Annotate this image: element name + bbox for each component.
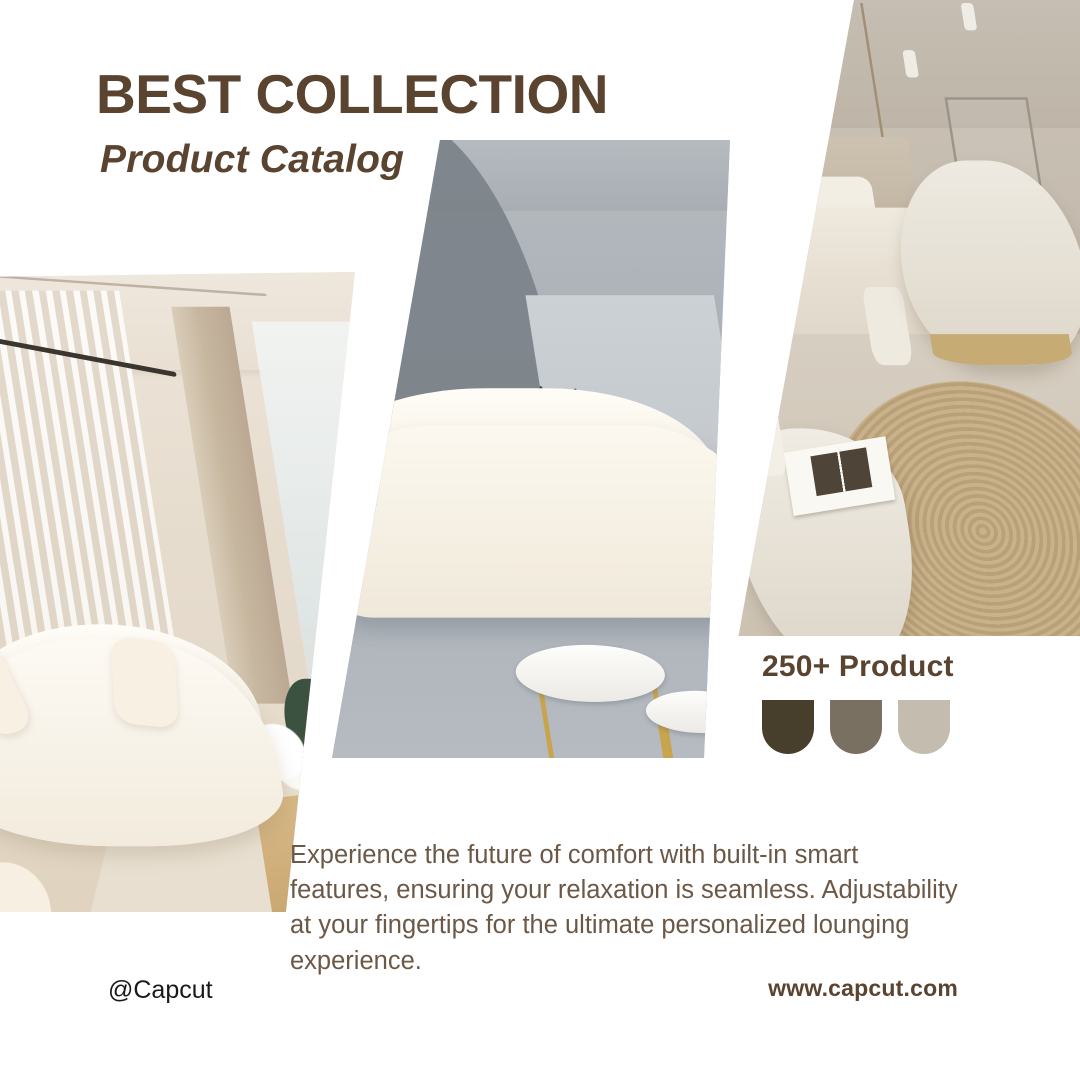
living-room-scene [0, 272, 355, 912]
chair-brass-base [930, 334, 1074, 366]
pouf [735, 271, 764, 381]
curved-sofa [330, 426, 730, 618]
dried-stems [743, 334, 758, 413]
product-count-label: 250+ Product [762, 650, 954, 684]
swatch-taupe[interactable] [830, 700, 882, 754]
page-title: BEST COLLECTION [96, 62, 608, 126]
description-paragraph: Experience the future of comfort with bu… [290, 838, 960, 980]
swatch-light-greige[interactable] [898, 700, 950, 754]
poster-canvas: BEST COLLECTION Product Catalog 250+ Pro… [0, 0, 1080, 1080]
bedroom-scene [735, 0, 1080, 636]
website-url[interactable]: www.capcut.com [768, 975, 958, 1002]
studio-sofa-scene [330, 140, 730, 758]
living-room-panel [0, 272, 355, 912]
social-handle[interactable]: @Capcut [108, 976, 213, 1005]
bedroom-panel [735, 0, 1080, 636]
studio-sofa-panel [330, 140, 730, 758]
page-subtitle: Product Catalog [100, 138, 404, 182]
swatch-dark-brown[interactable] [762, 700, 814, 754]
product-stats-block: 250+ Product [762, 650, 954, 754]
cushion-right [111, 637, 180, 730]
color-swatch-row [762, 700, 954, 754]
